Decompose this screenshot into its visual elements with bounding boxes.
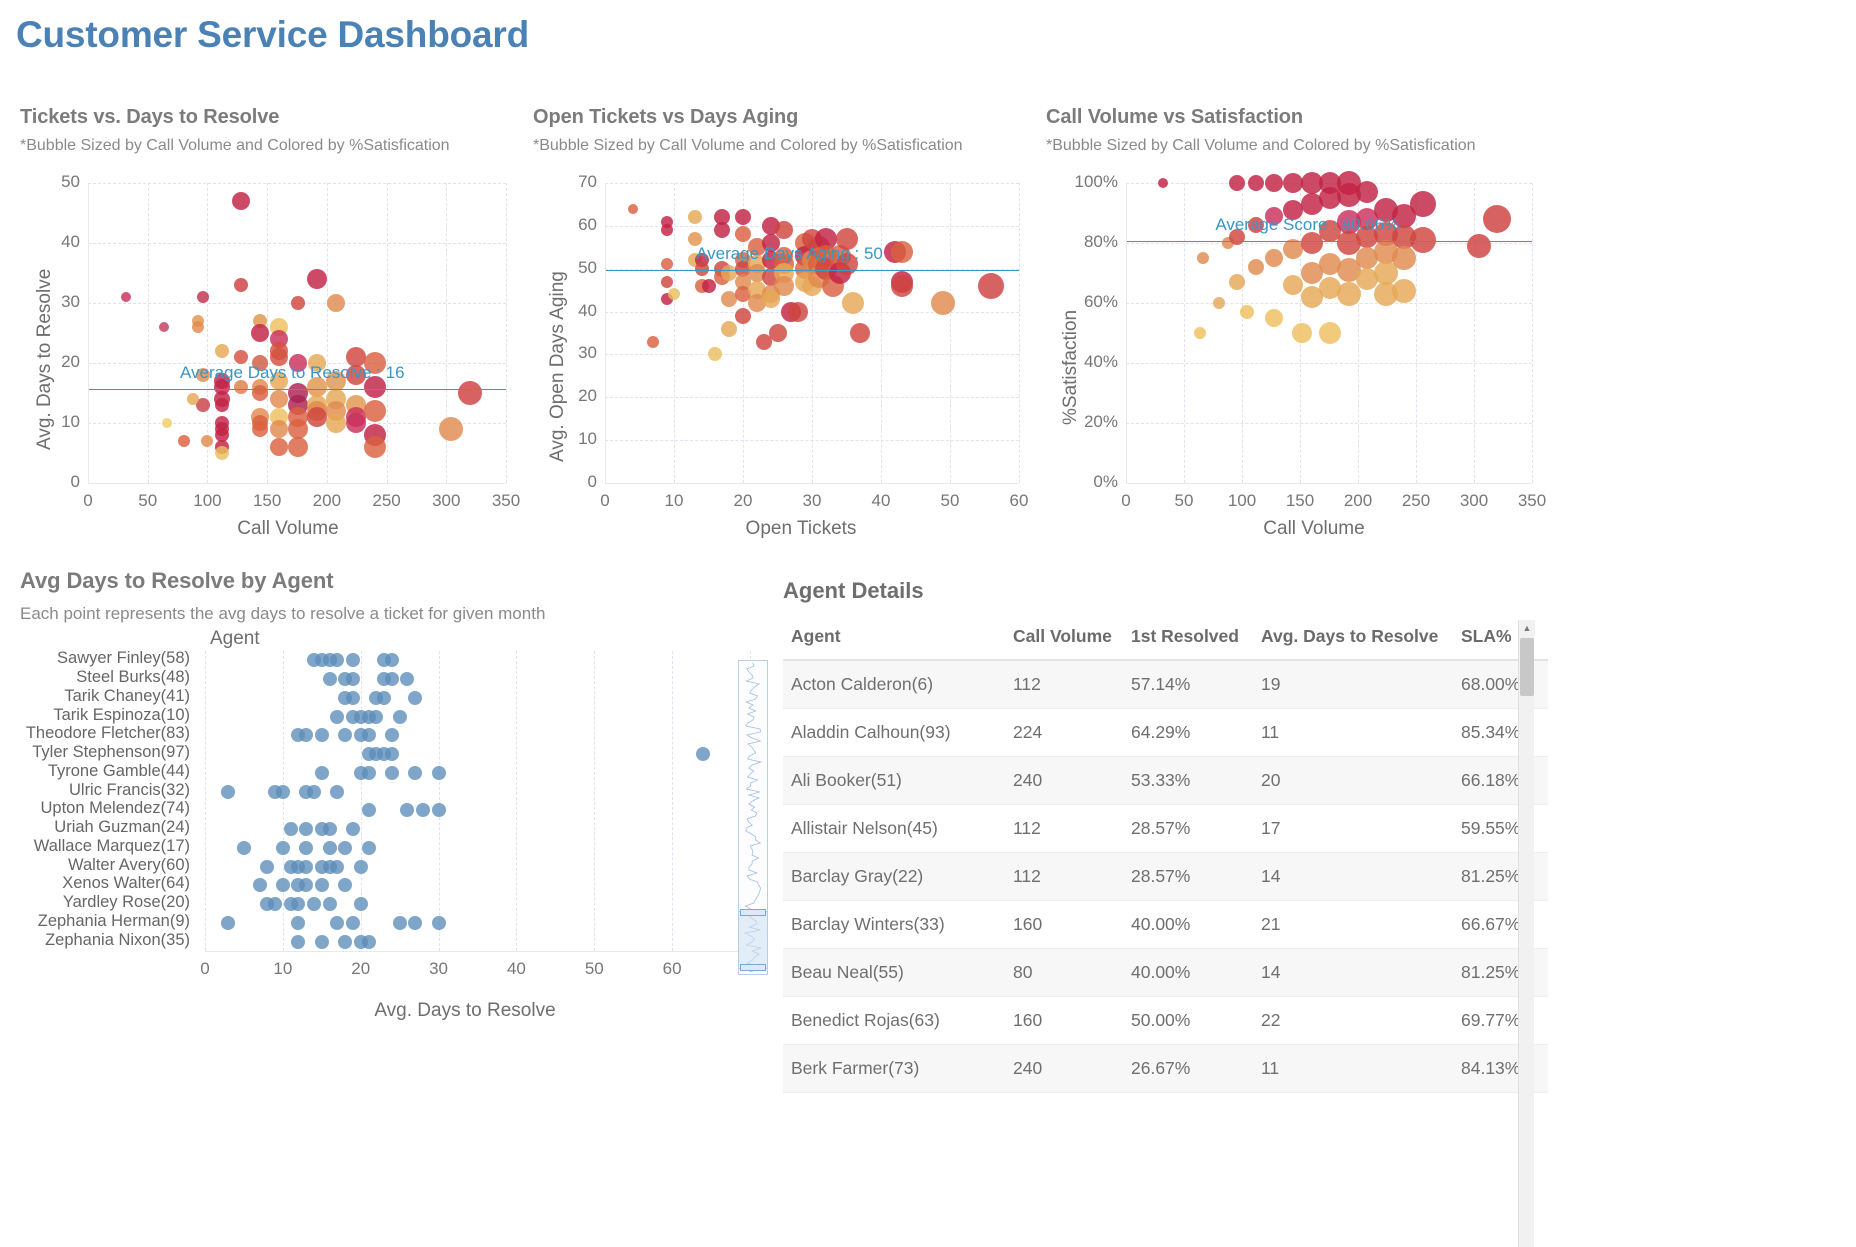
x-axis-tick-label: 50 [118,491,178,511]
chart-panel-tickets-vs-days: Tickets vs. Days to Resolve *Bubble Size… [20,106,520,155]
scatter-bubble[interactable] [1467,234,1491,258]
scatter-bubble[interactable] [688,210,702,224]
x-axis-tick-label: 50 [920,491,980,511]
x-axis-tick-label: 60 [989,491,1049,511]
table-row[interactable]: Berk Farmer(73)24026.67%1184.13% [783,1045,1548,1093]
dotplot-point[interactable] [432,766,446,780]
agent-axis-label[interactable]: Tyler Stephenson(97) [20,743,190,762]
dotplot-point[interactable] [385,653,399,667]
gridline-vertical [327,183,328,483]
x-axis-tick-label: 0 [575,491,635,511]
x-axis-tick-label: 30 [782,491,842,511]
chart-subtitle: *Bubble Sized by Call Volume and Colored… [1046,137,1546,155]
agent-axis-label[interactable]: Sawyer Finley(58) [20,649,190,668]
x-axis-tick-label: 0 [1096,491,1156,511]
dotplot-point[interactable] [362,935,376,949]
dotplot-point[interactable] [253,878,267,892]
dotplot-point[interactable] [400,803,414,817]
dotplot-point[interactable] [315,728,329,742]
range-slider-sparkline[interactable] [738,660,768,975]
table-cell-avg-days: 11 [1253,709,1453,757]
table-cell-avg-days: 19 [1253,660,1453,709]
scatter-bubble[interactable] [735,209,751,225]
scatter-bubble[interactable] [215,446,229,460]
x-axis-tick-label: 150 [237,491,297,511]
table-row[interactable]: Acton Calderon(6)11257.14%1968.00% [783,660,1548,709]
scatter-bubble[interactable] [159,322,169,332]
table-cell-first-resolved: 50.00% [1123,997,1253,1045]
scatter-bubble[interactable] [1283,275,1303,295]
scatter-bubble[interactable] [1483,205,1511,233]
scatter-bubble[interactable] [1265,309,1283,327]
table-cell-call-volume: 240 [1005,1045,1123,1093]
scatter-bubble[interactable] [1410,227,1436,253]
scatter-bubble[interactable] [661,224,673,236]
table-cell-first-resolved: 40.00% [1123,901,1253,949]
x-axis-line [205,951,750,952]
agent-axis-label[interactable]: Steel Burks(48) [20,668,190,687]
x-axis-tick-label: 20 [713,491,773,511]
x-axis-tick-label: 50 [1154,491,1214,511]
table-cell-agent: Barclay Gray(22) [783,853,1005,901]
gridline-vertical [506,183,507,483]
dotplot-point[interactable] [221,785,235,799]
scatter-bubble[interactable] [327,294,345,312]
scatter-bubble[interactable] [1158,178,1168,188]
scatter-bubble[interactable] [270,390,288,408]
table-title: Agent Details [783,578,924,604]
scatter-bubble[interactable] [931,291,955,315]
scatter-bubble[interactable] [234,278,248,292]
scatter-bubble[interactable] [788,302,808,322]
dotplot-title: Avg Days to Resolve by Agent [20,568,780,594]
scatter-bubble[interactable] [1265,174,1283,192]
scatter-bubble[interactable] [1248,175,1264,191]
x-axis-tick-label: 0 [175,959,235,979]
scatter-bubble[interactable] [252,421,268,437]
x-axis-line [1126,483,1532,484]
dotplot-point[interactable] [299,822,313,836]
gridline-vertical [594,651,595,951]
dotplot-point[interactable] [330,860,344,874]
scatter-bubble[interactable] [661,276,673,288]
table-cell-first-resolved: 57.14% [1123,660,1253,709]
gridline-vertical [205,651,206,951]
range-slider-selection[interactable] [739,911,767,969]
dotplot-point[interactable] [408,691,422,705]
scatter-bubble[interactable] [187,393,199,405]
y-axis-line [1126,183,1127,483]
dotplot-point[interactable] [323,897,337,911]
x-axis-tick-label: 300 [1444,491,1504,511]
scatter-bubble[interactable] [647,336,659,348]
scatter-bubble[interactable] [162,418,172,428]
dotplot-point[interactable] [330,653,344,667]
dotplot-point[interactable] [307,897,321,911]
scatter-bubble[interactable] [891,275,913,297]
agent-axis-label[interactable]: Wallace Marquez(17) [20,837,190,856]
dotplot-point[interactable] [416,803,430,817]
y-axis-line [605,183,606,483]
dotplot-point[interactable] [323,822,337,836]
x-axis-title-2: Open Tickets [601,518,1001,540]
dotplot-point[interactable] [393,710,407,724]
scatter-bubble[interactable] [668,288,680,300]
dotplot-point[interactable] [291,897,305,911]
x-axis-tick-label: 300 [416,491,476,511]
scatter-bubble[interactable] [215,344,229,358]
x-axis-line [88,483,506,484]
table-scrollbar[interactable]: ▲ [1518,620,1534,1247]
gridline-vertical [1532,183,1533,483]
scatter-bubble[interactable] [1197,252,1209,264]
scatter-bubble[interactable] [775,221,793,239]
scatter-bubble[interactable] [1194,327,1206,339]
chart-subtitle: *Bubble Sized by Call Volume and Colored… [20,137,520,155]
table-cell-agent: Berk Farmer(73) [783,1045,1005,1093]
dotplot-point[interactable] [284,822,298,836]
dotplot-point[interactable] [408,766,422,780]
scatter-bubble[interactable] [850,323,870,343]
scatter-bubble[interactable] [270,420,288,438]
x-axis-tick-label: 250 [357,491,417,511]
scroll-up-arrow-icon[interactable]: ▲ [1519,620,1535,636]
y-axis-tick-label: 60% [1048,292,1118,312]
dotplot-point[interactable] [323,841,337,855]
dotplot-point[interactable] [299,728,313,742]
table-scroll-thumb[interactable] [1520,638,1534,696]
dotplot-point[interactable] [338,935,352,949]
scatter-bubble[interactable] [714,222,730,238]
table-cell-agent: Allistair Nelson(45) [783,805,1005,853]
dotplot-point[interactable] [346,916,360,930]
y-axis-tick-label: 100% [1048,172,1118,192]
scatter-bubble[interactable] [1356,181,1378,203]
dotplot-point[interactable] [299,841,313,855]
page-title: Customer Service Dashboard [16,14,529,56]
dotplot-point[interactable] [291,916,305,930]
dotplot-point[interactable] [346,691,360,705]
chart-panel-callvolume-satisfaction: Call Volume vs Satisfaction *Bubble Size… [1046,106,1546,155]
gridline-vertical [148,183,149,483]
table-cell-first-resolved: 64.29% [1123,709,1253,757]
gridline-horizontal [88,243,506,244]
table-cell-avg-days: 14 [1253,949,1453,997]
dotplot-point[interactable] [299,878,313,892]
dotplot-point[interactable] [315,935,329,949]
dotplot-point[interactable] [307,785,321,799]
x-axis-tick-label: 350 [476,491,536,511]
table-cell-agent: Beau Neal(55) [783,949,1005,997]
average-reference-line [605,270,1019,271]
scatter-bubble[interactable] [721,321,737,337]
scatter-bubble[interactable] [628,204,638,214]
table-cell-call-volume: 240 [1005,757,1123,805]
chart-title: Call Volume vs Satisfaction [1046,106,1546,129]
dotplot-subtitle: Each point represents the avg days to re… [20,604,780,624]
average-reference-line [1126,241,1532,242]
scatter-bubble[interactable] [1213,297,1225,309]
dotplot-point[interactable] [354,897,368,911]
x-axis-tick-label: 60 [642,959,702,979]
chart-title: Tickets vs. Days to Resolve [20,106,520,129]
gridline-horizontal [1126,363,1532,364]
dotplot-point[interactable] [432,803,446,817]
table-row[interactable]: Ali Booker(51)24053.33%2066.18% [783,757,1548,805]
y-axis-line [88,183,89,483]
x-axis-tick-label: 200 [297,491,357,511]
scatter-bubble[interactable] [364,436,386,458]
gridline-vertical [1019,183,1020,483]
table-cell-avg-days: 17 [1253,805,1453,853]
scatter-bubble[interactable] [439,417,463,441]
scatter-bubble[interactable] [1265,249,1283,267]
agent-axis-label[interactable]: Ulric Francis(32) [20,781,190,800]
scatter-bubble[interactable] [364,400,386,422]
dotplot-point[interactable] [338,728,352,742]
scatter-bubble[interactable] [1240,305,1254,319]
x-axis-title-1: Call Volume [88,518,488,540]
table-row[interactable]: Allistair Nelson(45)11228.57%1759.55% [783,805,1548,853]
y-axis-tick-label: 60 [527,215,597,235]
table-row[interactable]: Benedict Rojas(63)16050.00%2269.77% [783,997,1548,1045]
column-header-agent[interactable]: Agent [783,620,1005,660]
gridline-vertical [1474,183,1475,483]
x-axis-title-3: Call Volume [1114,518,1514,540]
x-axis-tick-label: 350 [1502,491,1562,511]
scatter-bubble[interactable] [288,419,308,439]
scatter-bubble[interactable] [458,381,482,405]
scatter-bubble[interactable] [291,296,305,310]
dotplot-point[interactable] [276,785,290,799]
dotplot-point[interactable] [362,841,376,855]
y-axis-tick-label: 80% [1048,232,1118,252]
y-axis-tick-label: 40% [1048,352,1118,372]
dotplot-x-axis-title: Avg. Days to Resolve [200,1000,730,1022]
y-axis-title-2: Avg. Open Days Aging [547,271,569,462]
dotplot-point[interactable] [315,766,329,780]
agent-axis-label[interactable]: Zephania Herman(9) [20,912,190,931]
chart-subtitle: *Bubble Sized by Call Volume and Colored… [533,137,1033,155]
x-axis-line [605,483,1019,484]
scatter-bubble[interactable] [288,437,308,457]
scatter-chart-3[interactable]: 0%20%40%60%80%100%050100150200250300350A… [1046,175,1546,545]
dotplot-point[interactable] [346,653,360,667]
scatter-bubble[interactable] [1319,322,1341,344]
scatter-bubble[interactable] [1248,259,1264,275]
dotplot-point[interactable] [323,672,337,686]
y-axis-tick-label: 50 [10,172,80,192]
x-axis-tick-label: 30 [409,959,469,979]
scatter-bubble[interactable] [215,398,229,412]
dotplot-point[interactable] [276,841,290,855]
column-header-1st-resolved[interactable]: 1st Resolved [1123,620,1253,660]
gridline-vertical [516,651,517,951]
agent-axis-label[interactable]: Uriah Guzman(24) [20,818,190,837]
dotplot-point[interactable] [299,860,313,874]
table-cell-first-resolved: 26.67% [1123,1045,1253,1093]
x-axis-tick-label: 200 [1328,491,1388,511]
dotplot-point[interactable] [393,916,407,930]
scatter-bubble[interactable] [891,241,913,263]
average-reference-label: Average Days Aging : 50 [696,244,883,264]
dotplot-point[interactable] [362,766,376,780]
y-axis-title-1: Avg. Days to Resolve [34,269,56,450]
scatter-bubble[interactable] [307,269,327,289]
dotplot-point[interactable] [432,916,446,930]
agent-axis-label[interactable]: Theodore Fletcher(83) [20,724,190,743]
scatter-bubble[interactable] [178,435,190,447]
agent-axis-label[interactable]: Walter Avery(60) [20,856,190,875]
table-cell-call-volume: 224 [1005,709,1123,757]
dashboard-root: Customer Service Dashboard Tickets vs. D… [0,0,1856,1247]
dotplot-point[interactable] [346,822,360,836]
scatter-chart-1[interactable]: 01020304050050100150200250300350Average … [20,175,520,545]
scatter-bubble[interactable] [192,321,204,333]
x-axis-tick-label: 250 [1386,491,1446,511]
table-cell-first-resolved: 28.57% [1123,853,1253,901]
dotplot-point[interactable] [369,710,383,724]
x-axis-tick-label: 40 [851,491,911,511]
y-axis-tick-label: 40 [10,232,80,252]
dotplot-point[interactable] [338,878,352,892]
dotplot-point[interactable] [330,916,344,930]
dotplot-point[interactable] [268,897,282,911]
dotplot-point[interactable] [385,672,399,686]
gridline-vertical [674,183,675,483]
agent-axis-label[interactable]: Zephania Nixon(35) [20,931,190,950]
x-axis-tick-label: 20 [331,959,391,979]
table-cell-avg-days: 14 [1253,853,1453,901]
scatter-bubble[interactable] [252,385,268,401]
dotplot-point[interactable] [385,747,399,761]
scatter-bubble[interactable] [1392,246,1416,270]
scatter-bubble[interactable] [201,435,213,447]
dotplot-point[interactable] [330,785,344,799]
agent-axis-label[interactable]: Xenos Walter(64) [20,874,190,893]
scatter-bubble[interactable] [326,413,346,433]
table-cell-first-resolved: 53.33% [1123,757,1253,805]
dotplot-point[interactable] [330,710,344,724]
dotplot-point[interactable] [377,691,391,705]
scatter-bubble[interactable] [769,324,787,342]
gridline-vertical [812,183,813,483]
x-axis-tick-label: 10 [644,491,704,511]
dotplot-point[interactable] [276,878,290,892]
agent-axis-label[interactable]: Yardley Rose(20) [20,893,190,912]
chart-panel-open-tickets-aging: Open Tickets vs Days Aging *Bubble Sized… [533,106,1033,155]
table-row[interactable]: Barclay Winters(33)16040.00%2166.67% [783,901,1548,949]
agent-axis-label[interactable]: Tarik Espinoza(10) [20,706,190,725]
scatter-bubble[interactable] [270,438,288,456]
column-header-call-volume[interactable]: Call Volume [1005,620,1123,660]
gridline-vertical [950,183,951,483]
dotplot-point[interactable] [408,916,422,930]
table-cell-agent: Benedict Rojas(63) [783,997,1005,1045]
scatter-bubble[interactable] [735,226,751,242]
dotplot-chart[interactable]: 010203040506070Sawyer Finley(58)Steel Bu… [20,645,780,980]
scatter-bubble[interactable] [346,413,366,433]
range-slider-handle-bottom[interactable] [740,964,766,971]
agent-axis-label[interactable]: Tyrone Gamble(44) [20,762,190,781]
scatter-bubble[interactable] [232,192,250,210]
dotplot-point[interactable] [385,766,399,780]
x-axis-tick-label: 150 [1270,491,1330,511]
scatter-bubble[interactable] [1337,282,1361,306]
agent-axis-label[interactable]: Upton Melendez(74) [20,799,190,818]
scatter-bubble[interactable] [702,279,716,293]
scatter-bubble[interactable] [121,292,131,302]
table-cell-agent: Aladdin Calhoun(93) [783,709,1005,757]
scatter-bubble[interactable] [307,407,327,427]
dotplot-point[interactable] [400,672,414,686]
scatter-bubble[interactable] [708,347,722,361]
x-axis-tick-label: 100 [1212,491,1272,511]
dotplot-point[interactable] [338,841,352,855]
scatter-chart-2[interactable]: 0102030405060700102030405060Average Days… [533,175,1033,545]
gridline-vertical [1184,183,1185,483]
dotplot-point[interactable] [315,878,329,892]
scatter-bubble[interactable] [251,324,269,342]
gridline-vertical [672,651,673,951]
scatter-bubble[interactable] [234,350,248,364]
dotplot-point[interactable] [291,935,305,949]
gridline-vertical [387,183,388,483]
table-cell-call-volume: 160 [1005,997,1123,1045]
x-axis-tick-label: 0 [58,491,118,511]
dotplot-point[interactable] [260,860,274,874]
y-axis-tick-label: 20% [1048,412,1118,432]
table-cell-agent: Barclay Winters(33) [783,901,1005,949]
table-cell-first-resolved: 40.00% [1123,949,1253,997]
column-header-avg-days-to-resolve[interactable]: Avg. Days to Resolve [1253,620,1453,660]
table-cell-call-volume: 160 [1005,901,1123,949]
dotplot-point[interactable] [362,728,376,742]
table-cell-avg-days: 20 [1253,757,1453,805]
y-axis-tick-label: 0% [1048,472,1118,492]
dotplot-point[interactable] [221,916,235,930]
scatter-bubble[interactable] [978,273,1004,299]
dotplot-panel: Avg Days to Resolve by Agent Each point … [20,568,780,624]
scatter-bubble[interactable] [1392,279,1416,303]
dotplot-point[interactable] [346,672,360,686]
dotplot-point[interactable] [354,860,368,874]
scatter-bubble[interactable] [1292,323,1312,343]
gridline-vertical [439,651,440,951]
y-axis-tick-label: 70 [527,172,597,192]
scatter-bubble[interactable] [735,308,751,324]
dotplot-point[interactable] [696,747,710,761]
y-axis-title-3: %Satisfaction [1060,310,1082,425]
table-row[interactable]: Barclay Gray(22)11228.57%1481.25% [783,853,1548,901]
scatter-bubble[interactable] [774,276,794,296]
table-cell-avg-days: 11 [1253,1045,1453,1093]
agent-axis-label[interactable]: Tarik Chaney(41) [20,687,190,706]
agent-details-table[interactable]: Agent Call Volume 1st Resolved Avg. Days… [783,620,1548,1093]
dotplot-point[interactable] [237,841,251,855]
y-axis-tick-label: 0 [527,472,597,492]
chart-title: Open Tickets vs Days Aging [533,106,1033,129]
table-cell-agent: Acton Calderon(6) [783,660,1005,709]
scatter-bubble[interactable] [197,291,209,303]
scatter-bubble[interactable] [1410,191,1436,217]
table-row[interactable]: Beau Neal(55)8040.00%1481.25% [783,949,1548,997]
dotplot-point[interactable] [362,803,376,817]
range-slider-handle-top[interactable] [740,909,766,916]
dotplot-point[interactable] [385,728,399,742]
gridline-horizontal [1126,303,1532,304]
table-row[interactable]: Aladdin Calhoun(93)22464.29%1185.34% [783,709,1548,757]
